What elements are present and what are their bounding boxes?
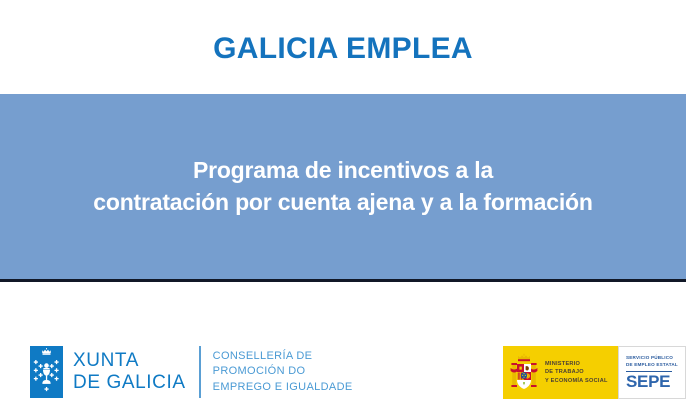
ministerio-line-2: DE TRABAJO xyxy=(545,368,608,377)
sepe-acronym: SEPE xyxy=(626,373,685,390)
banner-heading: Programa de incentivos a la contratación… xyxy=(83,155,603,218)
logo-divider xyxy=(199,346,201,398)
sepe-logo-block: SERVICIO PÚBLICO DE EMPLEO ESTATAL SEPE xyxy=(618,346,686,399)
xunta-wordmark-line-2: DE GALICIA xyxy=(73,372,186,394)
program-banner: Programa de incentivos a la contratación… xyxy=(0,94,686,282)
banner-heading-line-2: contratación por cuenta ajena y a la for… xyxy=(93,187,593,219)
ministerio-de-trabajo-block: MINISTERIO DE TRABAJO Y ECONOMÍA SOCIAL xyxy=(503,346,618,399)
conselleria-line-3: EMPREGO E IGUALDADE xyxy=(213,380,353,396)
header-title-bar: GALICIA EMPLEA xyxy=(0,0,686,94)
xunta-de-galicia-logo: XUNTA DE GALICIA CONSELLERÍA DE PROMOCIÓ… xyxy=(30,346,353,398)
ministerio-wordmark: MINISTERIO DE TRABAJO Y ECONOMÍA SOCIAL xyxy=(545,360,608,386)
page-title: GALICIA EMPLEA xyxy=(213,30,473,64)
gobierno-de-espana-logo: MINISTERIO DE TRABAJO Y ECONOMÍA SOCIAL … xyxy=(503,346,686,399)
conselleria-wordmark: CONSELLERÍA DE PROMOCIÓN DO EMPREGO E IG… xyxy=(213,346,353,398)
xunta-wordmark: XUNTA DE GALICIA xyxy=(73,346,186,398)
conselleria-line-2: PROMOCIÓN DO xyxy=(213,364,353,380)
conselleria-line-1: CONSELLERÍA DE xyxy=(213,349,353,365)
xunta-emblem-icon xyxy=(30,346,63,398)
sepe-subtitle-line-2: DE EMPLEO ESTATAL xyxy=(626,362,685,369)
xunta-wordmark-line-1: XUNTA xyxy=(73,350,186,372)
ministerio-line-3: Y ECONOMÍA SOCIAL xyxy=(545,377,608,386)
ministerio-line-1: MINISTERIO xyxy=(545,360,608,369)
escudo-de-espana-icon xyxy=(508,353,540,393)
sepe-subtitle-line-1: SERVICIO PÚBLICO xyxy=(626,355,685,362)
footer-logo-strip: XUNTA DE GALICIA CONSELLERÍA DE PROMOCIÓ… xyxy=(0,284,686,410)
banner-heading-line-1: Programa de incentivos a la xyxy=(93,155,593,187)
